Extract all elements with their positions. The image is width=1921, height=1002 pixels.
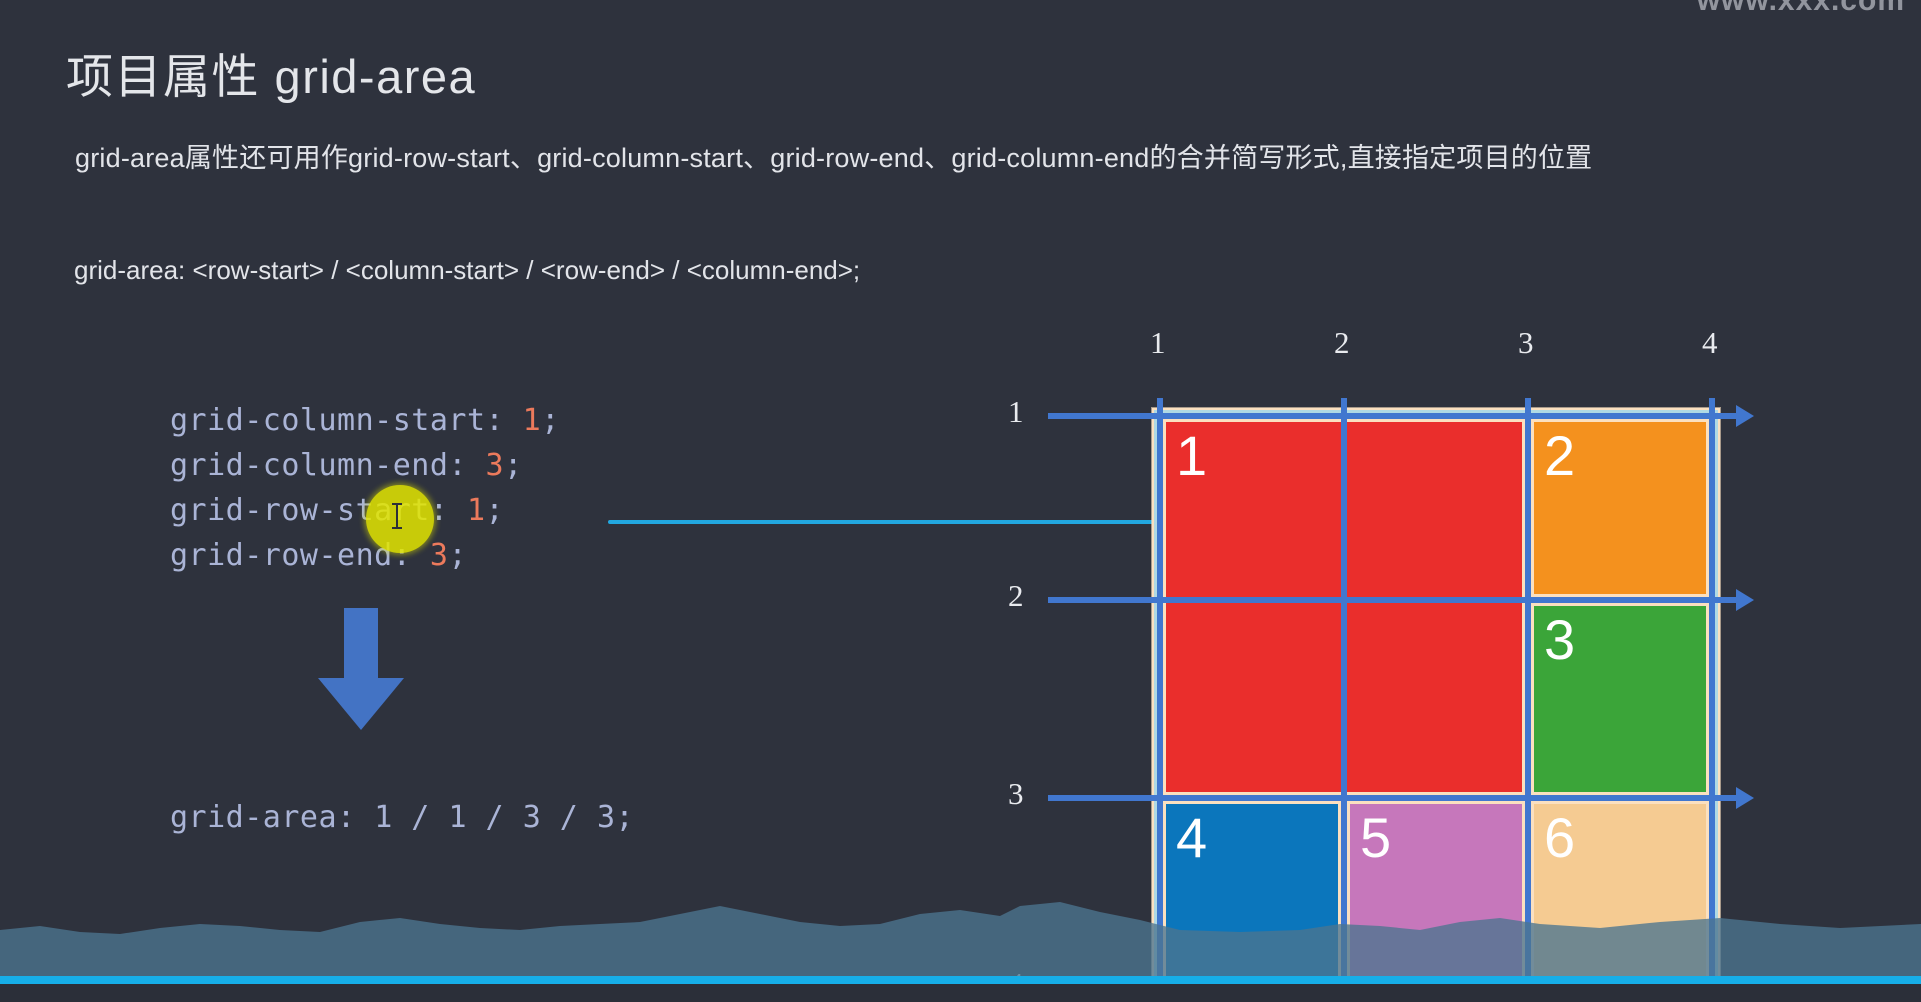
column-label-4: 4 (1702, 325, 1718, 361)
column-label-1: 1 (1150, 325, 1166, 361)
column-label-2: 2 (1334, 325, 1350, 361)
row-label-3: 3 (1008, 776, 1024, 812)
grid-line-arrow-row-3 (1736, 787, 1754, 809)
player-bottom-bar (0, 984, 1921, 1002)
grid-line-arrow-row-2 (1736, 589, 1754, 611)
row-label-2: 2 (1008, 578, 1024, 614)
grid-item-3: 3 (1534, 606, 1706, 792)
grid-item-2: 2 (1534, 422, 1706, 594)
grid-item-label: 5 (1360, 810, 1391, 866)
grid-item-label: 2 (1544, 428, 1575, 484)
grid-item-label: 3 (1544, 612, 1575, 668)
grid-line-row-3 (1048, 795, 1736, 801)
grid-item-label: 4 (1176, 810, 1207, 866)
video-progress-bar[interactable] (0, 976, 1921, 984)
grid-item-label: 6 (1544, 810, 1575, 866)
grid-line-arrow-row-1 (1736, 405, 1754, 427)
slide-canvas: www.xxx.com 项目属性 grid-area grid-area属性还可… (0, 0, 1921, 1002)
grid-line-row-1 (1048, 413, 1736, 419)
grid-diagram: 12345612341234 (0, 0, 1921, 1002)
audio-waveform (0, 900, 1921, 978)
grid-item-label: 1 (1176, 428, 1207, 484)
column-label-3: 3 (1518, 325, 1534, 361)
row-label-1: 1 (1008, 394, 1024, 430)
grid-line-row-2 (1048, 597, 1736, 603)
